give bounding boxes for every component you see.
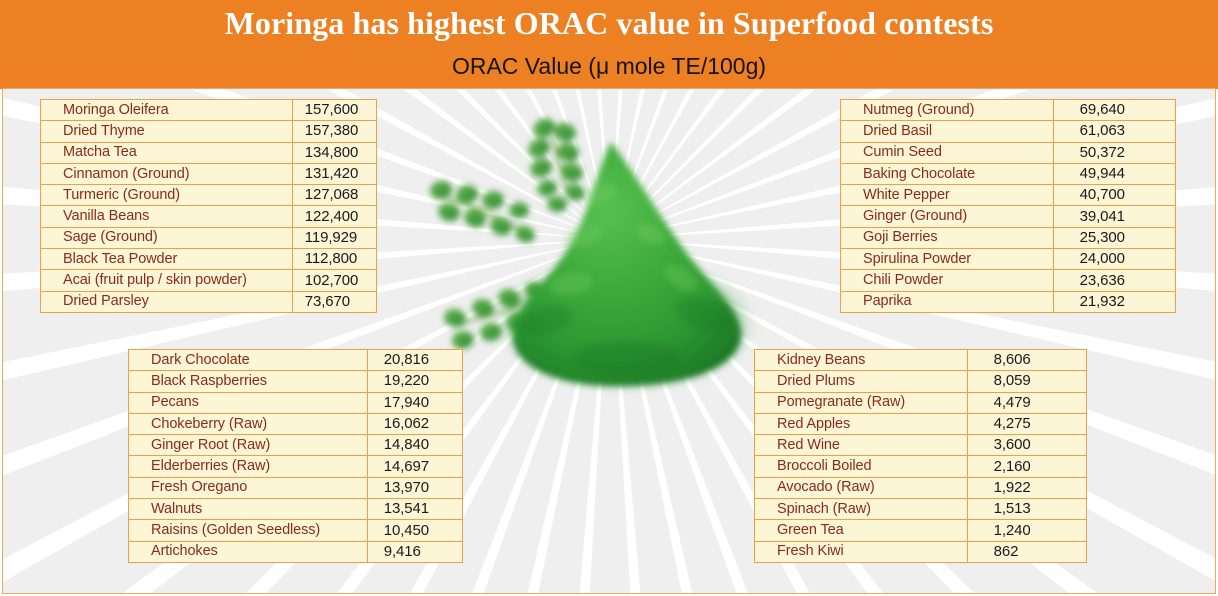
orac-value: 1,240 (967, 520, 1086, 541)
food-label: Spirulina Powder (841, 249, 1054, 270)
table-row: Ginger (Ground)39,041 (841, 206, 1176, 227)
table-row: Green Tea1,240 (755, 520, 1087, 541)
orac-value: 122,400 (292, 206, 376, 227)
food-label: Ginger (Ground) (841, 206, 1054, 227)
food-label: Chokeberry (Raw) (129, 413, 368, 434)
orac-value: 134,800 (292, 142, 376, 163)
orac-table-bottom-left: Dark Chocolate20,816Black Raspberries19,… (128, 349, 463, 563)
food-label: Vanilla Beans (41, 206, 293, 227)
table-row: Raisins (Golden Seedless)10,450 (129, 520, 463, 541)
orac-value: 13,541 (367, 499, 462, 520)
orac-table-bottom-right: Kidney Beans8,606Dried Plums8,059Pomegra… (754, 349, 1087, 563)
food-label: Green Tea (755, 520, 968, 541)
table-row: Red Apples4,275 (755, 413, 1087, 434)
food-label: Red Wine (755, 435, 968, 456)
table-row: Black Tea Powder112,800 (41, 249, 377, 270)
food-label: Paprika (841, 291, 1054, 312)
table-row: Acai (fruit pulp / skin powder)102,700 (41, 270, 377, 291)
food-label: Fresh Oregano (129, 477, 368, 498)
table-row: Avocado (Raw)1,922 (755, 477, 1087, 498)
table-row: Cinnamon (Ground)131,420 (41, 163, 377, 184)
orac-value: 23,636 (1053, 270, 1175, 291)
table-row: Dried Thyme157,380 (41, 121, 377, 142)
food-label: Red Apples (755, 413, 968, 434)
table-row: Dried Basil61,063 (841, 121, 1176, 142)
food-label: Cinnamon (Ground) (41, 163, 293, 184)
food-label: Dried Basil (841, 121, 1054, 142)
orac-value: 10,450 (367, 520, 462, 541)
orac-infographic: Moringa has highest ORAC value in Superf… (0, 0, 1218, 596)
orac-value: 49,944 (1053, 163, 1175, 184)
table-row: Paprika21,932 (841, 291, 1176, 312)
food-label: Acai (fruit pulp / skin powder) (41, 270, 293, 291)
table-row: Pecans17,940 (129, 392, 463, 413)
orac-value: 119,929 (292, 227, 376, 248)
food-label: Black Raspberries (129, 371, 368, 392)
food-label: Baking Chocolate (841, 163, 1054, 184)
food-label: Spinach (Raw) (755, 499, 968, 520)
orac-value: 8,059 (967, 371, 1086, 392)
orac-value: 16,062 (367, 413, 462, 434)
table-row: Turmeric (Ground)127,068 (41, 185, 377, 206)
table-row: Fresh Kiwi862 (755, 541, 1087, 562)
table-row: Dried Plums8,059 (755, 371, 1087, 392)
orac-value: 4,275 (967, 413, 1086, 434)
orac-value: 25,300 (1053, 227, 1175, 248)
orac-value: 157,600 (292, 100, 376, 121)
table-row: Goji Berries25,300 (841, 227, 1176, 248)
food-label: Walnuts (129, 499, 368, 520)
food-label: Turmeric (Ground) (41, 185, 293, 206)
food-label: Chili Powder (841, 270, 1054, 291)
table-row: Moringa Oleifera157,600 (41, 100, 377, 121)
orac-value: 1,513 (967, 499, 1086, 520)
orac-value: 69,640 (1053, 100, 1175, 121)
orac-value: 127,068 (292, 185, 376, 206)
food-label: Sage (Ground) (41, 227, 293, 248)
food-label: Dried Parsley (41, 291, 293, 312)
page-title: Moringa has highest ORAC value in Superf… (0, 4, 1218, 42)
orac-value: 61,063 (1053, 121, 1175, 142)
table-row: Ginger Root (Raw)14,840 (129, 435, 463, 456)
orac-value: 9,416 (367, 541, 462, 562)
orac-table-top-right: Nutmeg (Ground)69,640Dried Basil61,063Cu… (840, 99, 1176, 313)
orac-value: 14,697 (367, 456, 462, 477)
orac-value: 14,840 (367, 435, 462, 456)
orac-value: 862 (967, 541, 1086, 562)
food-label: Cumin Seed (841, 142, 1054, 163)
table-row: Baking Chocolate49,944 (841, 163, 1176, 184)
orac-table-top-left: Moringa Oleifera157,600Dried Thyme157,38… (40, 99, 377, 313)
food-label: Raisins (Golden Seedless) (129, 520, 368, 541)
food-label: Dried Plums (755, 371, 968, 392)
table-row: Matcha Tea134,800 (41, 142, 377, 163)
orac-value: 102,700 (292, 270, 376, 291)
orac-value: 2,160 (967, 456, 1086, 477)
orac-value: 17,940 (367, 392, 462, 413)
orac-value: 50,372 (1053, 142, 1175, 163)
orac-value: 3,600 (967, 435, 1086, 456)
orac-value: 40,700 (1053, 185, 1175, 206)
food-label: Broccoli Boiled (755, 456, 968, 477)
table-row: Kidney Beans8,606 (755, 350, 1087, 371)
table-row: Spinach (Raw)1,513 (755, 499, 1087, 520)
food-label: Pecans (129, 392, 368, 413)
food-label: Dried Thyme (41, 121, 293, 142)
table-row: Spirulina Powder24,000 (841, 249, 1176, 270)
orac-value: 157,380 (292, 121, 376, 142)
table-row: Chili Powder23,636 (841, 270, 1176, 291)
orac-value: 39,041 (1053, 206, 1175, 227)
orac-value: 24,000 (1053, 249, 1175, 270)
table-row: Black Raspberries19,220 (129, 371, 463, 392)
food-label: Elderberries (Raw) (129, 456, 368, 477)
table-row: Pomegranate (Raw)4,479 (755, 392, 1087, 413)
food-label: Black Tea Powder (41, 249, 293, 270)
table-row: Sage (Ground)119,929 (41, 227, 377, 248)
orac-value: 112,800 (292, 249, 376, 270)
orac-value: 20,816 (367, 350, 462, 371)
table-row: Vanilla Beans122,400 (41, 206, 377, 227)
food-label: Pomegranate (Raw) (755, 392, 968, 413)
table-row: Broccoli Boiled2,160 (755, 456, 1087, 477)
page-subtitle: ORAC Value (μ mole TE/100g) (0, 52, 1218, 80)
header-band: Moringa has highest ORAC value in Superf… (0, 0, 1218, 89)
food-label: Moringa Oleifera (41, 100, 293, 121)
orac-value: 13,970 (367, 477, 462, 498)
food-label: Matcha Tea (41, 142, 293, 163)
food-label: Avocado (Raw) (755, 477, 968, 498)
orac-value: 4,479 (967, 392, 1086, 413)
table-row: Fresh Oregano13,970 (129, 477, 463, 498)
food-label: Nutmeg (Ground) (841, 100, 1054, 121)
orac-value: 131,420 (292, 163, 376, 184)
food-label: Kidney Beans (755, 350, 968, 371)
table-row: Elderberries (Raw)14,697 (129, 456, 463, 477)
table-row: Cumin Seed50,372 (841, 142, 1176, 163)
food-label: White Pepper (841, 185, 1054, 206)
orac-value: 73,670 (292, 291, 376, 312)
table-row: Red Wine3,600 (755, 435, 1087, 456)
table-row: White Pepper40,700 (841, 185, 1176, 206)
table-row: Nutmeg (Ground)69,640 (841, 100, 1176, 121)
table-row: Dark Chocolate20,816 (129, 350, 463, 371)
table-row: Walnuts13,541 (129, 499, 463, 520)
food-label: Dark Chocolate (129, 350, 368, 371)
food-label: Artichokes (129, 541, 368, 562)
table-row: Dried Parsley73,670 (41, 291, 377, 312)
table-row: Artichokes9,416 (129, 541, 463, 562)
food-label: Ginger Root (Raw) (129, 435, 368, 456)
food-label: Fresh Kiwi (755, 541, 968, 562)
food-label: Goji Berries (841, 227, 1054, 248)
orac-value: 19,220 (367, 371, 462, 392)
orac-value: 1,922 (967, 477, 1086, 498)
orac-value: 8,606 (967, 350, 1086, 371)
table-row: Chokeberry (Raw)16,062 (129, 413, 463, 434)
orac-value: 21,932 (1053, 291, 1175, 312)
